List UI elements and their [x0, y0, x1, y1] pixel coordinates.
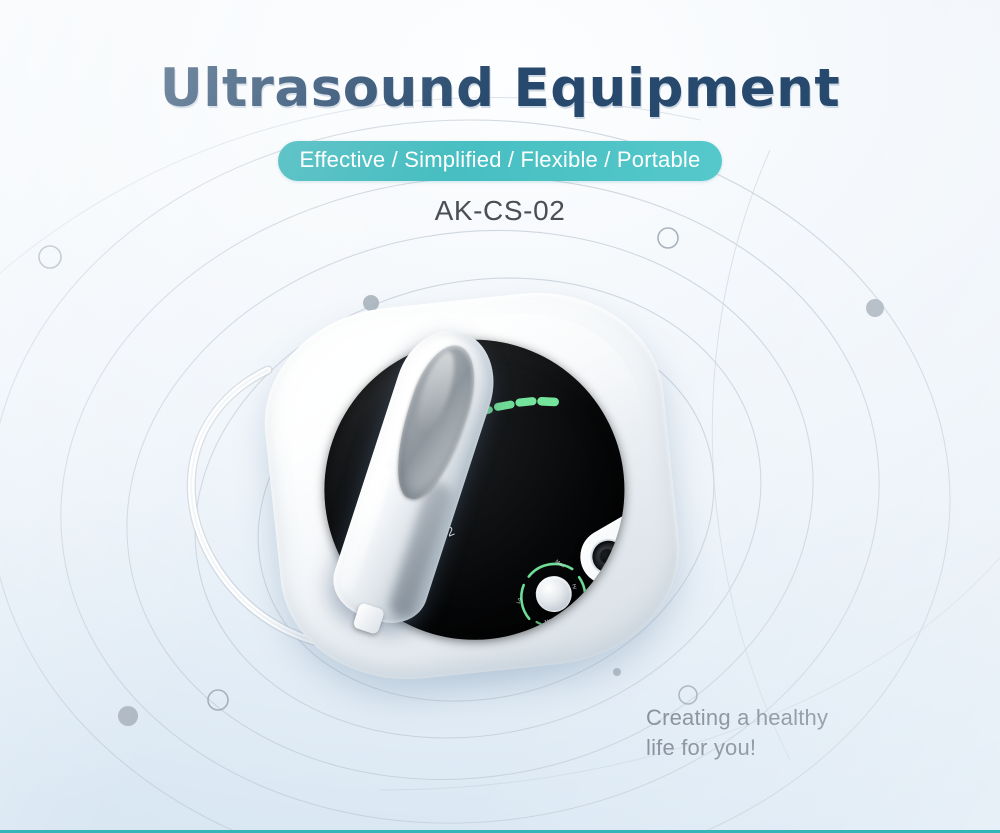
probe-socket-icon[interactable]	[586, 535, 630, 579]
tagline-line-1: Creating a healthy	[646, 703, 828, 733]
knob-label-min: Min	[544, 618, 554, 625]
tagline: Creating a healthy life for you!	[646, 703, 828, 763]
product-banner: Ultrasound Equipment Effective / Simplif…	[0, 0, 1000, 833]
product-image: Intensity AK-CS-02 Max Hi Min Lo	[0, 0, 1000, 833]
tagline-line-2: life for you!	[646, 733, 828, 763]
knob-label-high: Hi	[570, 583, 577, 589]
